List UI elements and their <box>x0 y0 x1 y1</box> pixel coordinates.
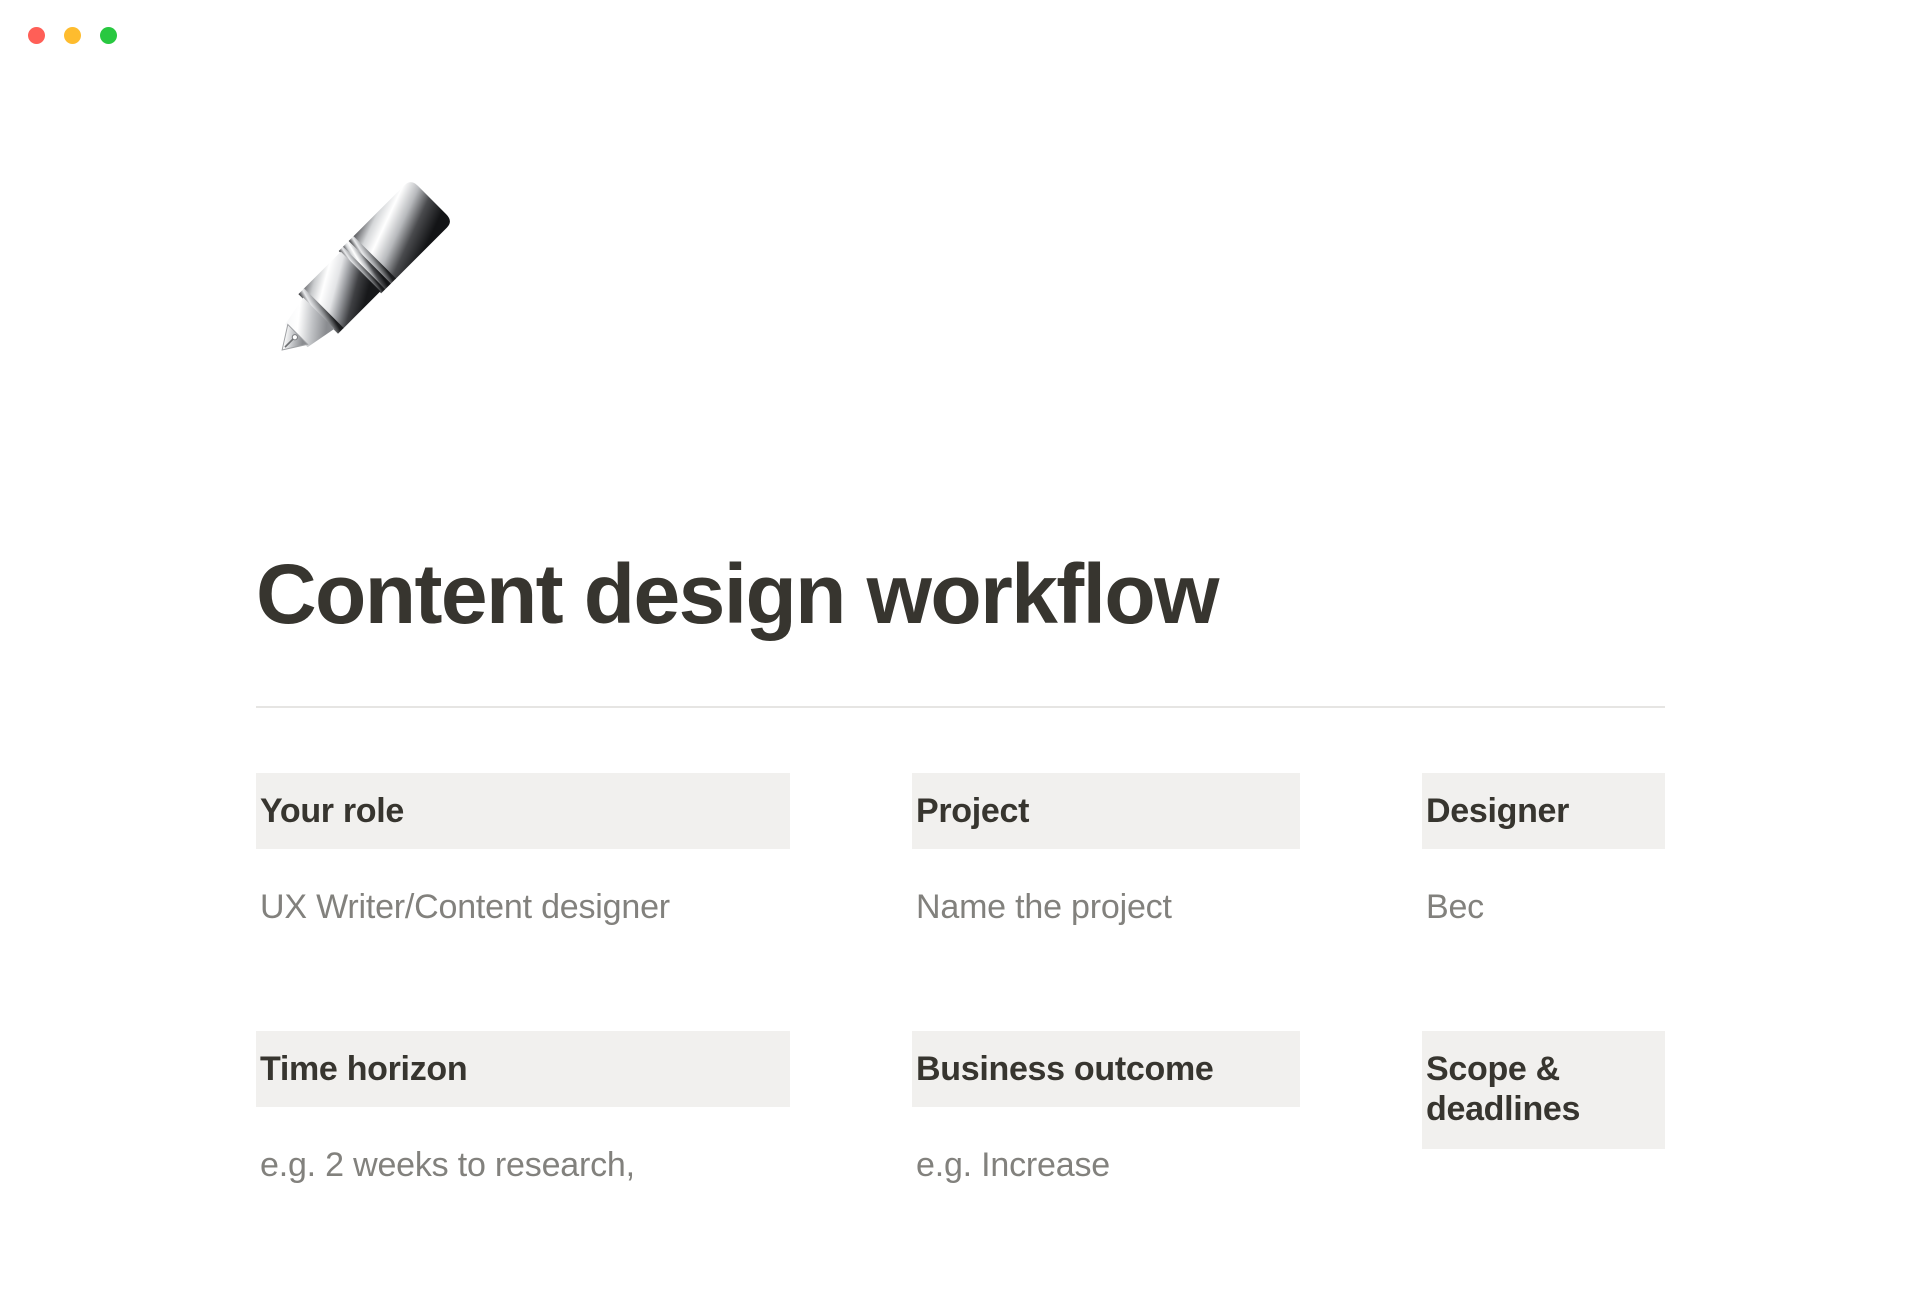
close-window-button[interactable] <box>28 27 45 44</box>
property-row: Time horizon e.g. 2 weeks to research, B… <box>256 1031 1665 1289</box>
property-value[interactable]: Name the project <box>912 885 1300 929</box>
property-label[interactable]: Business outcome <box>912 1031 1300 1107</box>
property-cell-time-horizon: Time horizon e.g. 2 weeks to research, <box>256 1031 790 1187</box>
page-title[interactable]: Content design workflow <box>256 542 1676 646</box>
property-grid: Your role UX Writer/Content designer Pro… <box>256 773 1665 1289</box>
property-value[interactable]: UX Writer/Content designer <box>256 885 790 929</box>
property-value[interactable]: e.g. Increase <box>912 1143 1300 1187</box>
property-cell-business-outcome: Business outcome e.g. Increase <box>912 1031 1300 1187</box>
property-value[interactable]: e.g. 2 weeks to research, <box>256 1143 790 1187</box>
minimize-window-button[interactable] <box>64 27 81 44</box>
property-value[interactable]: Bec <box>1422 885 1665 929</box>
fountain-pen-icon[interactable] <box>252 160 482 390</box>
window-title-bar <box>0 0 1920 66</box>
maximize-window-button[interactable] <box>100 27 117 44</box>
document-page: Content design workflow Your role UX Wri… <box>0 0 1920 1200</box>
property-label[interactable]: Your role <box>256 773 790 849</box>
property-label[interactable]: Scope & deadlines <box>1422 1031 1665 1149</box>
property-row: Your role UX Writer/Content designer Pro… <box>256 773 1665 1031</box>
property-label[interactable]: Time horizon <box>256 1031 790 1107</box>
property-cell-scope-deadlines: Scope & deadlines <box>1422 1031 1665 1149</box>
property-label[interactable]: Designer <box>1422 773 1665 849</box>
page-divider <box>256 706 1665 708</box>
property-label[interactable]: Project <box>912 773 1300 849</box>
property-cell-your-role: Your role UX Writer/Content designer <box>256 773 790 929</box>
property-cell-project: Project Name the project <box>912 773 1300 929</box>
traffic-light-group <box>28 27 117 44</box>
property-cell-designer: Designer Bec <box>1422 773 1665 929</box>
